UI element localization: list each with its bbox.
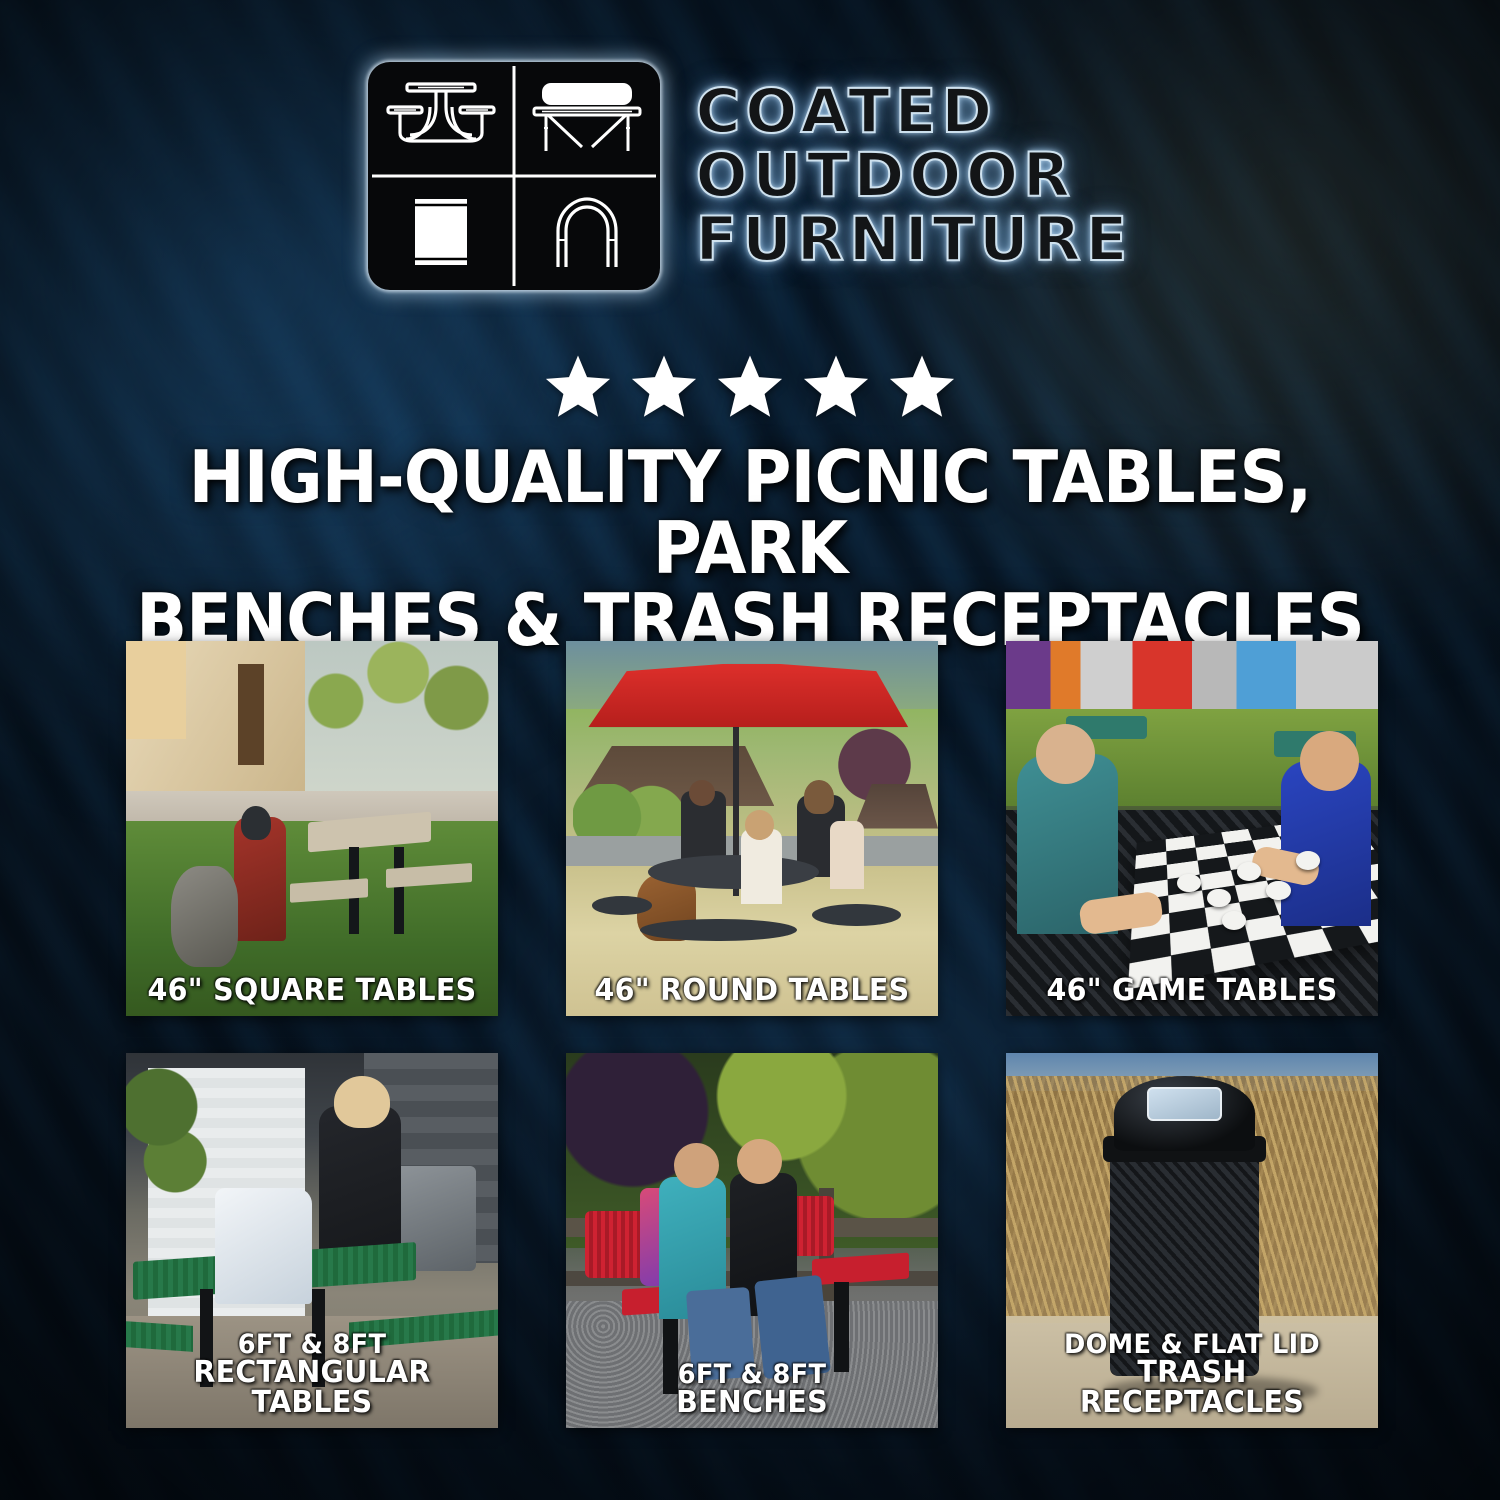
wordmark-line-3: FURNITURE [696,209,1133,271]
product-caption: 46" ROUND TABLES [581,976,923,1006]
headline: HIGH-QUALITY PICNIC TABLES, PARK BENCHES… [118,442,1383,656]
product-caption-line-2: BENCHES [581,1388,923,1418]
picnic-table-front-icon [368,62,514,176]
product-caption-line-1: 46" SQUARE TABLES [141,976,483,1006]
product-caption: 46" SQUARE TABLES [141,976,483,1006]
product-caption: DOME & FLAT LID TRASH RECEPTACLES [1021,1331,1363,1418]
product-caption: 6FT & 8FT RECTANGULAR TABLES [141,1331,483,1418]
product-tile-square-tables[interactable]: 46" SQUARE TABLES [126,641,498,1016]
product-photo-square-tables [126,641,498,1016]
logo-divider-horizontal [372,175,656,178]
product-tile-trash-receptacles[interactable]: DOME & FLAT LID TRASH RECEPTACLES [1006,1053,1378,1428]
product-grid: 46" SQUARE TABLES 46" ROUND TABLES [126,641,1373,1428]
product-photo-round-tables [566,641,938,1016]
headline-line-1: HIGH-QUALITY PICNIC TABLES, PARK [189,435,1312,590]
product-photo-game-tables [1006,641,1378,1016]
promo-banner: COATED OUTDOOR FURNITURE HIGH-QUALITY PI… [0,0,1500,1500]
wordmark-line-2: OUTDOOR [696,145,1133,207]
bike-rack-arch-icon [514,176,660,290]
product-caption: 6FT & 8FT BENCHES [581,1361,923,1418]
rating-stars [0,352,1500,422]
star-icon [886,352,958,422]
product-tile-round-tables[interactable]: 46" ROUND TABLES [566,641,938,1016]
star-icon [542,352,614,422]
product-caption: 46" GAME TABLES [1021,976,1363,1006]
product-caption-line-1: 6FT & 8FT [581,1361,923,1388]
product-tile-rectangular-tables[interactable]: 6FT & 8FT RECTANGULAR TABLES [126,1053,498,1428]
star-icon [628,352,700,422]
bench-table-side-icon [514,62,660,176]
product-caption-line-1: 46" ROUND TABLES [581,976,923,1006]
star-icon [714,352,786,422]
coated-outdoor-furniture-logo [368,62,660,290]
wordmark-line-1: COATED [696,81,1133,143]
product-caption-line-1: 46" GAME TABLES [1021,976,1363,1006]
brand-lockup: COATED OUTDOOR FURNITURE [0,62,1500,290]
product-tile-benches[interactable]: 6FT & 8FT BENCHES [566,1053,938,1428]
product-caption-line-2: TRASH RECEPTACLES [1021,1358,1363,1418]
trash-receptacle-icon [368,176,514,290]
product-caption-line-2: RECTANGULAR TABLES [141,1358,483,1418]
product-caption-line-1: 6FT & 8FT [141,1331,483,1358]
star-icon [800,352,872,422]
product-caption-line-1: DOME & FLAT LID [1021,1331,1363,1358]
brand-wordmark: COATED OUTDOOR FURNITURE [696,81,1133,272]
product-tile-game-tables[interactable]: 46" GAME TABLES [1006,641,1378,1016]
